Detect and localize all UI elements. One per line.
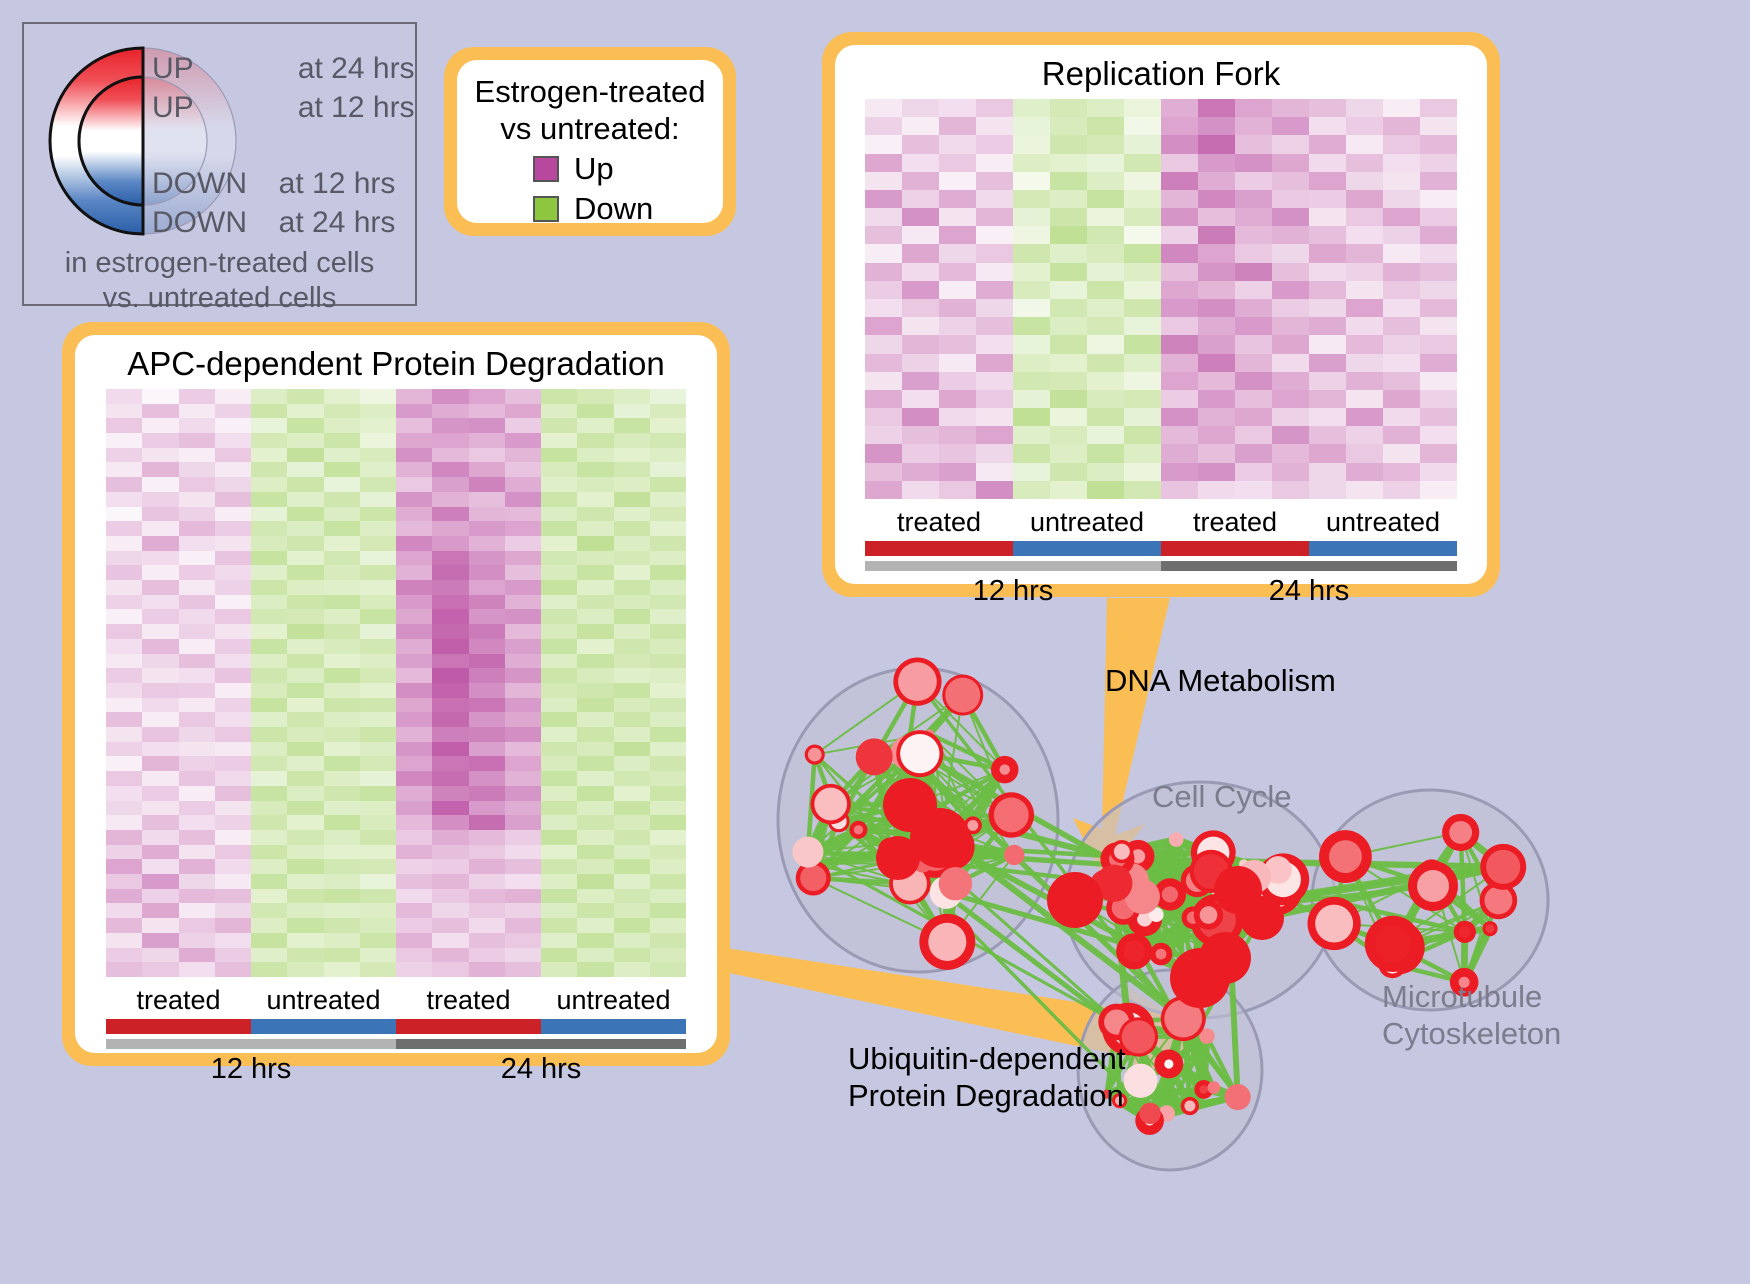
network-node[interactable] <box>810 784 850 824</box>
heatmap-cell <box>614 507 650 522</box>
heatmap-cell <box>179 639 215 654</box>
legend-time: at 12 hrs <box>279 167 396 200</box>
heatmap-cell <box>179 683 215 698</box>
heatmap-cell <box>976 444 1013 462</box>
heatmap-cell <box>287 448 323 463</box>
heatmap-cell <box>142 683 178 698</box>
heatmap-cell <box>1235 463 1272 481</box>
heatmap-cell <box>1198 317 1235 335</box>
heatmap-cell <box>541 433 577 448</box>
heatmap-cell <box>505 712 541 727</box>
heatmap-cell <box>142 948 178 963</box>
node-inner-core <box>1199 1085 1208 1094</box>
network-node[interactable] <box>1110 840 1133 863</box>
node-inner-core <box>939 867 972 900</box>
heatmap-cell <box>1124 135 1161 153</box>
heatmap-cell <box>1346 99 1383 117</box>
heatmap-cell <box>650 933 686 948</box>
heatmap-cell <box>396 698 432 713</box>
heatmap-cell <box>650 507 686 522</box>
node-inner-core <box>856 738 893 775</box>
node-inner-core <box>967 820 978 831</box>
heatmap-cell <box>1087 281 1124 299</box>
heatmap-cell <box>215 801 251 816</box>
heatmap-cell <box>541 756 577 771</box>
node-inner-core <box>898 662 937 701</box>
heatmap-cell <box>1309 244 1346 262</box>
heatmap-cell <box>287 654 323 669</box>
network-node[interactable] <box>1319 830 1372 883</box>
heatmap-cell <box>1050 226 1087 244</box>
heatmap-cell <box>396 448 432 463</box>
heatmap-cell <box>1013 426 1050 444</box>
heatmap-cell <box>505 580 541 595</box>
network-node[interactable] <box>896 730 943 777</box>
heatmap-cell <box>1235 154 1272 172</box>
apc-timepoint-bars <box>106 1039 686 1049</box>
heatmap-cell <box>432 874 468 889</box>
heatmap-cell <box>179 521 215 536</box>
heatmap-cell <box>432 668 468 683</box>
heatmap-cell <box>939 117 976 135</box>
node-inner-core <box>1199 932 1251 984</box>
heatmap-cell <box>1013 117 1050 135</box>
network-node[interactable] <box>1181 1097 1199 1115</box>
heatmap-cell <box>614 845 650 860</box>
heatmap-cell <box>650 595 686 610</box>
legend-label: UP <box>152 91 193 124</box>
network-node[interactable] <box>1123 1064 1157 1098</box>
heatmap-cell <box>432 448 468 463</box>
heatmap-cell <box>360 830 396 845</box>
heatmap-cell <box>1161 335 1198 353</box>
heatmap-cell <box>215 874 251 889</box>
network-node[interactable] <box>1442 814 1479 851</box>
heatmap-cell <box>251 874 287 889</box>
heatmap-cell <box>541 712 577 727</box>
network-node[interactable] <box>805 745 825 765</box>
heatmap-cell <box>142 418 178 433</box>
heatmap-cell <box>142 609 178 624</box>
heatmap-cell <box>1346 281 1383 299</box>
heatmap-cell <box>505 492 541 507</box>
heatmap-cell <box>251 683 287 698</box>
network-node[interactable] <box>1480 844 1526 890</box>
heatmap-cell <box>939 190 976 208</box>
network-node[interactable] <box>1240 896 1284 940</box>
heatmap-cell <box>179 948 215 963</box>
heatmap-cell <box>287 668 323 683</box>
heatmap-cell <box>251 742 287 757</box>
heatmap-cell <box>577 889 613 904</box>
heatmap-cell <box>142 492 178 507</box>
heatmap-cell <box>976 226 1013 244</box>
replication-fork-timepoint-bars <box>865 561 1457 571</box>
heatmap-cell <box>106 933 142 948</box>
heatmap-cell <box>179 448 215 463</box>
network-node[interactable] <box>849 821 867 839</box>
heatmap-cell <box>469 551 505 566</box>
legend-row-up12: UP at 12 hrs <box>152 91 415 125</box>
network-node[interactable] <box>1408 861 1458 911</box>
heatmap-cell <box>251 903 287 918</box>
heatmap-cell <box>650 698 686 713</box>
heatmap-cell <box>1420 444 1457 462</box>
heatmap-cell <box>902 317 939 335</box>
replication-fork-heatmap <box>865 99 1457 499</box>
heatmap-cell <box>469 948 505 963</box>
heatmap-cell <box>142 859 178 874</box>
heatmap-cell <box>902 335 939 353</box>
heatmap-cell <box>215 389 251 404</box>
heatmap-cell <box>505 551 541 566</box>
heatmap-cell <box>215 815 251 830</box>
node-inner-core <box>1417 870 1449 902</box>
heatmap-cell <box>106 654 142 669</box>
network-node[interactable] <box>1454 921 1476 943</box>
heatmap-cell <box>396 433 432 448</box>
heatmap-cell <box>106 786 142 801</box>
heatmap-cell <box>1013 99 1050 117</box>
heatmap-cell <box>142 712 178 727</box>
heatmap-cell <box>432 492 468 507</box>
node-inner-core <box>1200 906 1218 924</box>
heatmap-cell <box>577 389 613 404</box>
heatmap-cell <box>541 771 577 786</box>
heatmap-cell <box>251 771 287 786</box>
heatmap-cell <box>1161 390 1198 408</box>
heatmap-cell <box>179 771 215 786</box>
heatmap-cell <box>614 918 650 933</box>
network-node[interactable] <box>1139 1103 1160 1124</box>
heatmap-cell <box>1420 154 1457 172</box>
estrogen-legend-panel: Estrogen-treated vs untreated: Up Down <box>444 47 736 236</box>
heatmap-cell <box>650 668 686 683</box>
heatmap-cell <box>650 654 686 669</box>
heatmap-cell <box>251 492 287 507</box>
heatmap-cell <box>1198 281 1235 299</box>
heatmap-cell <box>396 962 432 977</box>
heatmap-cell <box>1050 208 1087 226</box>
heatmap-cell <box>287 830 323 845</box>
heatmap-cell <box>1383 354 1420 372</box>
heatmap-cell <box>505 918 541 933</box>
heatmap-cell <box>865 317 902 335</box>
network-node[interactable] <box>1194 900 1223 929</box>
heatmap-cell <box>1346 335 1383 353</box>
heatmap-cell <box>251 477 287 492</box>
heatmap-cell <box>976 281 1013 299</box>
heatmap-cell <box>505 477 541 492</box>
heatmap-cell <box>577 477 613 492</box>
heatmap-cell <box>1198 299 1235 317</box>
heatmap-cell <box>865 354 902 372</box>
heatmap-cell <box>106 462 142 477</box>
heatmap-cell <box>976 244 1013 262</box>
heatmap-cell <box>215 962 251 977</box>
heatmap-cell <box>251 433 287 448</box>
heatmap-cell <box>287 845 323 860</box>
heatmap-cell <box>106 624 142 639</box>
heatmap-cell <box>106 683 142 698</box>
heatmap-cell <box>541 668 577 683</box>
heatmap-cell <box>1272 117 1309 135</box>
heatmap-cell <box>614 462 650 477</box>
heatmap-cell <box>614 609 650 624</box>
heatmap-cell <box>179 624 215 639</box>
network-node[interactable] <box>1004 845 1024 865</box>
heatmap-cell <box>902 281 939 299</box>
apc-heatmap <box>106 389 686 977</box>
legend-time: at 24 hrs <box>298 52 415 85</box>
heatmap-cell <box>287 418 323 433</box>
heatmap-cell <box>106 492 142 507</box>
heatmap-cell <box>1013 135 1050 153</box>
heatmap-cell <box>432 433 468 448</box>
heatmap-cell <box>432 580 468 595</box>
heatmap-cell <box>1383 463 1420 481</box>
heatmap-cell <box>577 595 613 610</box>
heatmap-cell <box>1050 299 1087 317</box>
up-label: Up <box>574 151 614 187</box>
heatmap-cell <box>1198 408 1235 426</box>
network-node[interactable] <box>1308 897 1361 950</box>
heatmap-cell <box>179 859 215 874</box>
heatmap-cell <box>650 565 686 580</box>
heatmap-cell <box>106 962 142 977</box>
heatmap-cell <box>1161 317 1198 335</box>
heatmap-cell <box>179 933 215 948</box>
heatmap-cell <box>215 580 251 595</box>
heatmap-cell <box>251 639 287 654</box>
heatmap-cell <box>396 742 432 757</box>
heatmap-cell <box>179 595 215 610</box>
heatmap-cell <box>324 404 360 419</box>
heatmap-cell <box>1050 135 1087 153</box>
heatmap-cell <box>1198 172 1235 190</box>
column-group-label: treated <box>1161 507 1309 538</box>
heatmap-cell <box>1272 299 1309 317</box>
heatmap-cell <box>1013 354 1050 372</box>
heatmap-cell <box>1235 372 1272 390</box>
heatmap-cell <box>541 830 577 845</box>
heatmap-cell <box>541 815 577 830</box>
heatmap-cell <box>1013 226 1050 244</box>
heatmap-cell <box>432 698 468 713</box>
heatmap-cell <box>106 507 142 522</box>
heatmap-cell <box>215 654 251 669</box>
network-node[interactable] <box>1047 872 1103 928</box>
heatmap-cell <box>650 418 686 433</box>
heatmap-cell <box>396 801 432 816</box>
node-inner-core <box>1169 832 1184 847</box>
network-node[interactable] <box>1150 943 1173 966</box>
heatmap-cell <box>106 668 142 683</box>
heatmap-cell <box>179 742 215 757</box>
heatmap-cell <box>1272 190 1309 208</box>
heatmap-cell <box>1309 263 1346 281</box>
network-node[interactable] <box>893 658 941 706</box>
heatmap-cell <box>251 536 287 551</box>
node-inner-core <box>814 788 847 821</box>
network-node[interactable] <box>1207 1081 1220 1094</box>
heatmap-cell <box>106 918 142 933</box>
heatmap-cell <box>106 874 142 889</box>
heatmap-cell <box>505 830 541 845</box>
network-node[interactable] <box>856 738 893 775</box>
heatmap-cell <box>614 492 650 507</box>
network-node[interactable] <box>1199 932 1251 984</box>
heatmap-cell <box>1235 190 1272 208</box>
heatmap-cell <box>1161 408 1198 426</box>
heatmap-cell <box>396 477 432 492</box>
heatmap-cell <box>396 712 432 727</box>
node-inner-core <box>1375 926 1411 962</box>
heatmap-cell <box>396 859 432 874</box>
heatmap-cell <box>324 742 360 757</box>
microtubule-line2: Cytoskeleton <box>1382 1015 1561 1052</box>
heatmap-cell <box>251 801 287 816</box>
network-node[interactable] <box>1225 1084 1251 1110</box>
heatmap-cell <box>1161 244 1198 262</box>
heatmap-cell <box>577 830 613 845</box>
heatmap-cell <box>142 624 178 639</box>
heatmap-cell <box>251 418 287 433</box>
heatmap-cell <box>179 786 215 801</box>
heatmap-cell <box>1272 481 1309 499</box>
heatmap-cell <box>251 551 287 566</box>
heatmap-cell <box>324 933 360 948</box>
heatmap-cell <box>360 859 396 874</box>
network-node[interactable] <box>919 914 975 970</box>
network-node[interactable] <box>1365 916 1421 972</box>
heatmap-cell <box>650 801 686 816</box>
heatmap-cell <box>1346 154 1383 172</box>
heatmap-cell <box>469 609 505 624</box>
heatmap-cell <box>432 771 468 786</box>
heatmap-cell <box>1198 135 1235 153</box>
heatmap-cell <box>287 874 323 889</box>
heatmap-cell <box>541 404 577 419</box>
heatmap-cell <box>541 609 577 624</box>
column-group-label: untreated <box>541 985 686 1016</box>
network-node[interactable] <box>1116 933 1152 969</box>
heatmap-cell <box>469 698 505 713</box>
heatmap-cell <box>902 263 939 281</box>
heatmap-cell <box>360 536 396 551</box>
heatmap-cell <box>1235 226 1272 244</box>
heatmap-cell <box>251 948 287 963</box>
node-inner-core <box>1139 1103 1160 1124</box>
heatmap-cell <box>432 551 468 566</box>
heatmap-cell <box>865 281 902 299</box>
heatmap-cell <box>1124 444 1161 462</box>
heatmap-cell <box>215 698 251 713</box>
heatmap-cell <box>1235 117 1272 135</box>
heatmap-cell <box>432 859 468 874</box>
network-node[interactable] <box>939 867 972 900</box>
heatmap-cell <box>179 418 215 433</box>
heatmap-cell <box>432 830 468 845</box>
heatmap-cell <box>902 481 939 499</box>
heatmap-cell <box>1309 190 1346 208</box>
node-inner-core <box>945 678 980 713</box>
heatmap-cell <box>1013 317 1050 335</box>
heatmap-cell <box>577 462 613 477</box>
heatmap-cell <box>251 404 287 419</box>
heatmap-cell <box>1420 317 1457 335</box>
treatment-color-bar <box>1161 541 1309 556</box>
heatmap-cell <box>396 654 432 669</box>
heatmap-cell <box>360 639 396 654</box>
heatmap-cell <box>650 521 686 536</box>
heatmap-cell <box>324 389 360 404</box>
network-node[interactable] <box>876 836 920 880</box>
heatmap-cell <box>1346 426 1383 444</box>
heatmap-cell <box>1346 117 1383 135</box>
heatmap-cell <box>396 933 432 948</box>
heatmap-cell <box>360 477 396 492</box>
node-inner-core <box>854 825 863 834</box>
heatmap-cell <box>251 918 287 933</box>
heatmap-cell <box>577 404 613 419</box>
heatmap-cell <box>1013 299 1050 317</box>
heatmap-cell <box>541 536 577 551</box>
heatmap-cell <box>505 962 541 977</box>
heatmap-cell <box>505 418 541 433</box>
up-color-swatch <box>533 156 559 182</box>
heatmap-cell <box>1013 244 1050 262</box>
heatmap-cell <box>324 756 360 771</box>
heatmap-cell <box>1420 226 1457 244</box>
heatmap-cell <box>396 815 432 830</box>
heatmap-cell <box>505 624 541 639</box>
heatmap-cell <box>287 801 323 816</box>
heatmap-cell <box>1087 208 1124 226</box>
heatmap-cell <box>106 580 142 595</box>
network-node[interactable] <box>1154 1050 1183 1079</box>
heatmap-cell <box>939 154 976 172</box>
heatmap-cell <box>287 948 323 963</box>
network-node[interactable] <box>1169 832 1184 847</box>
heatmap-cell <box>650 580 686 595</box>
network-node[interactable] <box>1483 921 1498 936</box>
heatmap-cell <box>1013 463 1050 481</box>
heatmap-cell <box>577 565 613 580</box>
heatmap-cell <box>215 448 251 463</box>
node-inner-core <box>808 748 822 762</box>
heatmap-cell <box>179 845 215 860</box>
heatmap-cell <box>1309 317 1346 335</box>
network-node[interactable] <box>991 756 1019 784</box>
network-node[interactable] <box>989 792 1035 838</box>
network-node[interactable] <box>942 675 983 716</box>
heatmap-cell <box>577 815 613 830</box>
heatmap-cell <box>1346 408 1383 426</box>
heatmap-cell <box>251 462 287 477</box>
heatmap-cell <box>1124 190 1161 208</box>
heatmap-cell <box>106 815 142 830</box>
heatmap-cell <box>1013 281 1050 299</box>
network-node[interactable] <box>792 837 823 868</box>
heatmap-cell <box>1420 299 1457 317</box>
heatmap-cell <box>505 639 541 654</box>
heatmap-cell <box>976 317 1013 335</box>
heatmap-cell <box>215 507 251 522</box>
heatmap-cell <box>396 624 432 639</box>
heatmap-cell <box>469 727 505 742</box>
heatmap-cell <box>469 771 505 786</box>
